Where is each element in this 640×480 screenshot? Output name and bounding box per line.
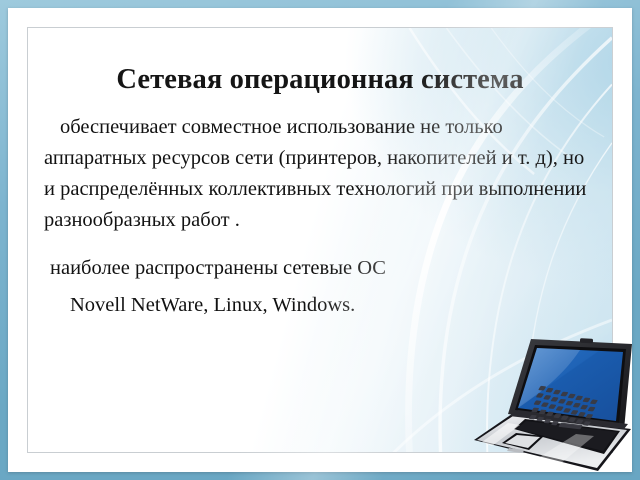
slide: Сетевая операционная система обеспечивае… <box>0 0 640 480</box>
os-list-line: Novell NetWare, Linux, Windows. <box>44 284 600 321</box>
slide-body: обеспечивает совместное использование не… <box>44 112 600 321</box>
page-title: Сетевая операционная система <box>28 65 612 95</box>
laptop-illustration <box>468 330 640 480</box>
laptop-icon <box>468 330 640 480</box>
common-os-line: наиболее распространены сетевые ОС <box>44 236 600 284</box>
body-paragraph: обеспечивает совместное использование не… <box>44 112 600 236</box>
